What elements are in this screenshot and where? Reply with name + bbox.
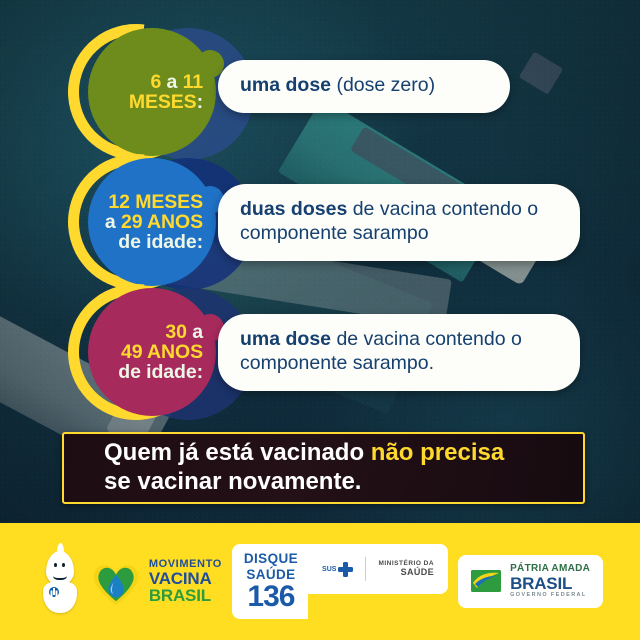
age-num-2: 11 [183, 71, 203, 93]
mascot-body [43, 581, 77, 613]
patria-line3: GOVERNO FEDERAL [510, 593, 590, 599]
sus-logo: SUS [322, 562, 353, 577]
heart-droplet-icon [90, 558, 142, 606]
logo-word-vacina: VACINA [149, 570, 222, 587]
patria-amada-brasil-logo: PÁTRIA AMADA BRASIL GOVERNO FEDERAL [458, 555, 603, 607]
banner-line1-highlight: não precisa [371, 439, 504, 466]
age-num-2: 49 ANOS [121, 341, 203, 363]
vaccination-infographic-poster: 6 a 11 MESES: uma dose (dose zero) 12 ME… [0, 0, 640, 640]
already-vaccinated-banner: Quem já está vacinado não precisa se vac… [62, 432, 585, 504]
brazil-flag-mark-icon [471, 570, 501, 592]
medical-cross-icon [338, 562, 353, 577]
age-colon: : [197, 91, 203, 113]
banner-line1-part1: Quem já está vacinado [104, 439, 371, 466]
age-label: 30 a 49 ANOS de idade: [95, 322, 209, 383]
ministry-wordmark: MINISTÉRIO DA SAÚDE [378, 560, 434, 577]
disque-number: 136 [244, 582, 298, 612]
logo-divider [365, 557, 366, 581]
age-conn-1: a [105, 211, 121, 233]
ministerio-da-saude-logo: SUS MINISTÉRIO DA SAÚDE [308, 544, 448, 594]
patria-line2: BRASIL [510, 575, 590, 593]
age-suffix: de idade: [118, 231, 203, 253]
age-suffix: de idade: [118, 361, 203, 383]
age-group-row-6-11-meses: 6 a 11 MESES: uma dose (dose zero) [0, 22, 640, 154]
disque-label-line2: SAÚDE [244, 568, 298, 582]
footer-logo-bar: MOVIMENTO VACINA BRASIL DISQUE SAÚDE 136… [0, 523, 640, 640]
age-group-row-12-meses-29-anos: 12 MESES a 29 ANOS de idade: duas doses … [0, 152, 640, 284]
dose-bold-text: duas doses [240, 198, 347, 220]
dose-bold-text: uma dose [240, 74, 331, 96]
age-label: 12 MESES a 29 ANOS de idade: [95, 192, 209, 253]
banner-text: Quem já está vacinado não precisa se vac… [64, 439, 504, 497]
age-num-1: 6 [150, 71, 161, 93]
ministry-line2: SAÚDE [378, 568, 434, 578]
mascot-cross-badge-icon [49, 587, 59, 597]
age-num-2: 29 ANOS [121, 211, 203, 233]
age-num-1: 30 [165, 321, 187, 343]
age-label: 6 a 11 MESES: [95, 72, 209, 113]
disque-label-line1: DISQUE [244, 552, 298, 566]
dose-bubble-2: duas doses de vacina contendo o componen… [218, 184, 580, 261]
dose-bold-text: uma dose [240, 328, 331, 350]
ze-gotinha-mascot-icon [37, 551, 83, 613]
patria-wordmark: PÁTRIA AMADA BRASIL GOVERNO FEDERAL [510, 564, 590, 598]
sus-wordmark: SUS [322, 566, 336, 573]
movimento-vacina-brasil-logo: MOVIMENTO VACINA BRASIL [37, 551, 222, 613]
age-num-1: 12 MESES [108, 191, 203, 213]
dose-bubble-3: uma dose de vacina contendo o componente… [218, 314, 580, 391]
age-conn-1: a [161, 71, 182, 93]
age-conn-1: a [187, 321, 203, 343]
logo-word-brasil: BRASIL [149, 587, 222, 604]
dose-rest-text: (dose zero) [331, 74, 435, 96]
age-unit: MESES [129, 91, 197, 113]
age-group-row-30-49-anos: 30 a 49 ANOS de idade: uma dose de vacin… [0, 282, 640, 414]
age-circle-maroon: 30 a 49 ANOS de idade: [88, 288, 216, 416]
disque-saude-box: DISQUE SAÚDE 136 [232, 544, 308, 619]
banner-line2: se vacinar novamente. [104, 468, 361, 495]
movimento-vacina-brasil-wordmark: MOVIMENTO VACINA BRASIL [149, 559, 222, 604]
age-circle-green: 6 a 11 MESES: [88, 28, 216, 156]
age-circle-blue: 12 MESES a 29 ANOS de idade: [88, 158, 216, 286]
mascot-smile [53, 570, 67, 580]
dose-bubble-1: uma dose (dose zero) [218, 60, 510, 113]
